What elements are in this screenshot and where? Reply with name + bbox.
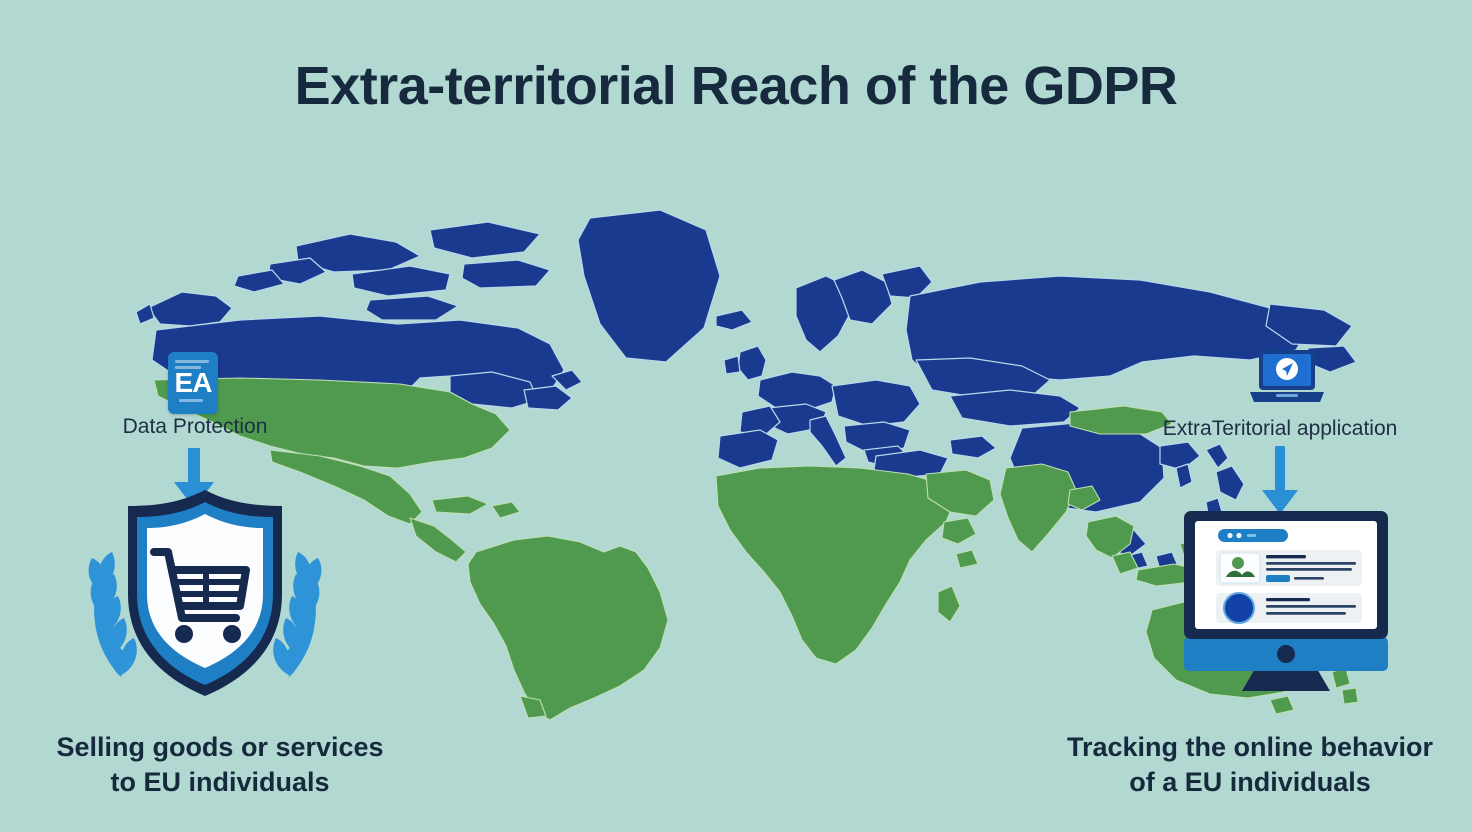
- desktop-monitor-icon: [1178, 505, 1394, 695]
- toolbar-bar: [1247, 534, 1256, 537]
- card-button: [1266, 575, 1290, 582]
- left-caption-line-1: Selling goods or services: [20, 730, 420, 765]
- monitor-svg: [1178, 505, 1394, 695]
- card-text-line: [1266, 598, 1310, 601]
- left-caption: Selling goods or services to EU individu…: [20, 730, 420, 799]
- laptop-trackpad: [1276, 394, 1298, 397]
- right-caption-line-1: Tracking the online behavior: [1040, 730, 1460, 765]
- shield-emblem-svg: [70, 482, 340, 702]
- page-title: Extra-territorial Reach of the GDPR: [0, 55, 1472, 117]
- toolbar-dot: [1236, 533, 1241, 538]
- card-text-line: [1266, 568, 1352, 571]
- data-protection-label: Data Protection: [120, 415, 270, 439]
- extraterritorial-application-label: ExtraTeritorial application: [1155, 417, 1405, 441]
- laptop-svg: [1246, 348, 1328, 408]
- card-text-line: [1266, 605, 1356, 608]
- shield-with-shopping-cart-icon: [70, 482, 340, 702]
- ea-document-icon: EA: [168, 352, 218, 414]
- left-caption-line-2: to EU individuals: [20, 765, 420, 800]
- thumbnail-avatar: [1232, 557, 1244, 569]
- card-text-line: [1266, 612, 1346, 615]
- cart-wheel: [223, 625, 241, 643]
- card-text-line: [1266, 555, 1306, 558]
- ea-badge-text: EA: [168, 352, 218, 414]
- ea-card-shape: EA: [168, 352, 218, 414]
- card-text-line: [1266, 562, 1356, 565]
- monitor-power-dot: [1277, 645, 1295, 663]
- card-text-line: [1294, 577, 1324, 580]
- laptop-icon: [1246, 348, 1328, 408]
- right-caption: Tracking the online behavior of a EU ind…: [1040, 730, 1460, 799]
- right-caption-line-2: of a EU individuals: [1040, 765, 1460, 800]
- infographic-canvas: Extra-territorial Reach of the GDPR: [0, 0, 1472, 832]
- toolbar-dot: [1227, 533, 1232, 538]
- cart-wheel: [175, 625, 193, 643]
